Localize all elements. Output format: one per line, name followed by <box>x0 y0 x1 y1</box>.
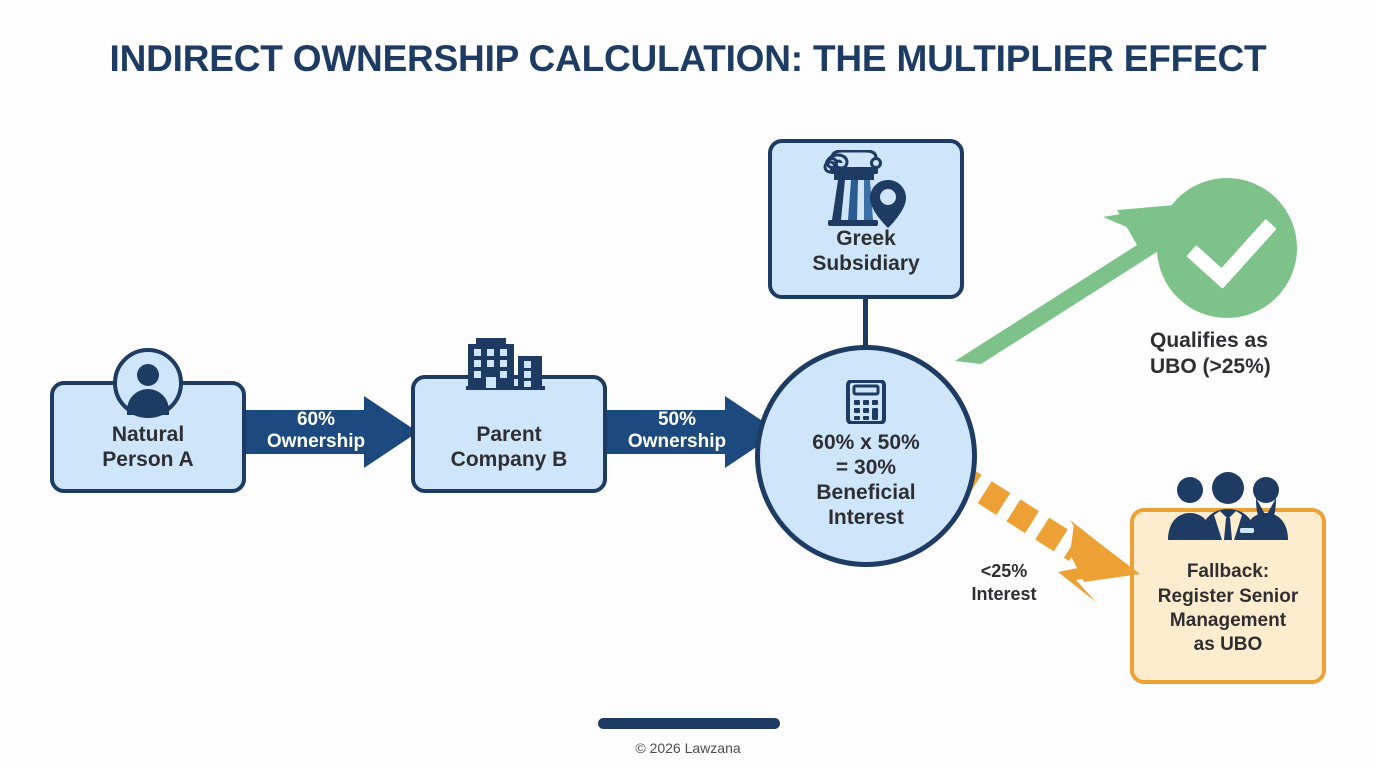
arrow-50-percent <box>607 396 779 468</box>
people-group-icon <box>1164 468 1292 540</box>
checkmark-glyph <box>1186 196 1277 289</box>
office-buildings-icon <box>466 336 552 390</box>
arrow-60-percent <box>246 396 418 468</box>
avatar-head <box>137 364 159 386</box>
diagram-canvas: Indirect Ownership Calculation: The Mult… <box>0 0 1376 768</box>
beneficial-interest-label: 60% x 50% = 30% Beneficial Interest <box>812 430 919 531</box>
node-beneficial-interest-calculation[interactable]: 60% x 50% = 30% Beneficial Interest <box>755 345 977 567</box>
node-parent-company[interactable]: Parent Company B <box>411 375 607 493</box>
person-avatar-icon <box>113 348 183 418</box>
page-title: Indirect Ownership Calculation: The Mult… <box>0 38 1376 80</box>
node-fallback-label: Fallback: Register Senior Management as … <box>1158 560 1298 657</box>
node-natural-person-label: Natural Person A <box>102 423 193 473</box>
check-circle-icon <box>1157 178 1297 318</box>
node-greek-subsidiary-label: Greek Subsidiary <box>812 227 919 277</box>
calculator-icon <box>846 380 886 424</box>
arrow-fallback-dashed <box>950 468 1150 608</box>
footer-divider-bar <box>598 718 780 729</box>
avatar-body <box>127 389 169 415</box>
greek-column-location-icon <box>818 150 914 230</box>
connector-greek-to-calculation <box>863 297 868 351</box>
footer-copyright: © 2026 Lawzana <box>0 740 1376 756</box>
node-parent-company-label: Parent Company B <box>451 423 568 473</box>
